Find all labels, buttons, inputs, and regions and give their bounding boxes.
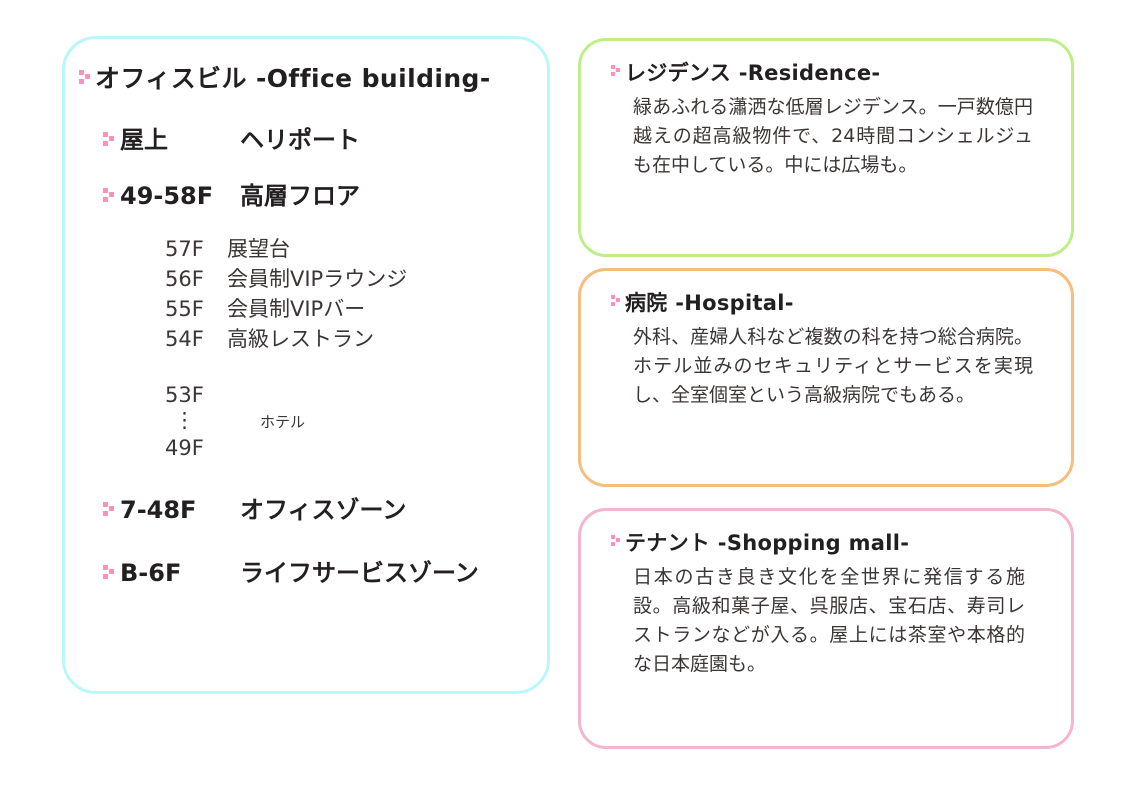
residence-card-content: レジデンス -Residence- 緑あふれる瀟洒な低層レジデンス。一戸数億円越… (581, 41, 1071, 180)
floor-row: 56F 会員制VIPラウンジ (165, 265, 527, 295)
floor-row: 53F (165, 381, 527, 411)
vertical-ellipsis-icon: ⋮ (165, 410, 236, 431)
zone-key: B-6F (120, 560, 240, 586)
floor-name: 展望台 (227, 235, 290, 265)
floor-name: 会員制VIPラウンジ (227, 265, 407, 295)
floor-row: 55F 会員制VIPバー (165, 295, 527, 325)
hospital-description: 外科、産婦人科など複数の科を持つ総合病院。ホテル並みのセキュリティとサービスを実… (633, 323, 1033, 410)
hospital-card: 病院 -Hospital- 外科、産婦人科など複数の科を持つ総合病院。ホテル並み… (578, 268, 1074, 487)
zone-name: オフィスゾーン (240, 497, 406, 523)
office-card-content: オフィスビル -Office building- 屋上 ヘリポート 49-58F… (65, 39, 547, 586)
spacer (79, 524, 527, 560)
hospital-title: 病院 -Hospital- (625, 291, 794, 315)
mall-description: 日本の古き良き文化を全世界に発信する施設。高級和菓子屋、呉服店、宝石店、寿司レス… (633, 563, 1025, 679)
floor-list: 57F 展望台 56F 会員制VIPラウンジ 55F 会員制VIPバー 54F … (165, 235, 527, 463)
arrow-bullet-icon (103, 565, 114, 581)
floor-name: 会員制VIPバー (227, 295, 365, 325)
shopping-mall-card: テナント -Shopping mall- 日本の古き良き文化を全世界に発信する施… (578, 508, 1074, 749)
residence-title: レジデンス -Residence- (625, 61, 880, 85)
residence-card: レジデンス -Residence- 緑あふれる瀟洒な低層レジデンス。一戸数億円越… (578, 38, 1074, 257)
floor-guide-board: オフィスビル -Office building- 屋上 ヘリポート 49-58F… (0, 0, 1125, 792)
floor-row: 49F (165, 434, 527, 464)
hotel-floor-range: 53F ⋮ ホテル 49F (165, 381, 527, 464)
arrow-bullet-icon (611, 65, 620, 79)
floor-row: 54F 高級レストラン (165, 325, 527, 355)
spacer (79, 153, 527, 183)
floor-number: 55F (165, 295, 227, 325)
spacer (79, 93, 527, 127)
office-title-row: オフィスビル -Office building- (79, 65, 527, 93)
office-building-card: オフィスビル -Office building- 屋上 ヘリポート 49-58F… (62, 36, 550, 694)
section-name: 高層フロア (240, 183, 360, 209)
zone-name: ライフサービスゾーン (240, 560, 479, 586)
mall-title-row: テナント -Shopping mall- (611, 531, 1045, 555)
floor-number: 57F (165, 235, 227, 265)
office-zone-office: 7-48F オフィスゾーン (103, 497, 527, 523)
mall-card-content: テナント -Shopping mall- 日本の古き良き文化を全世界に発信する施… (581, 511, 1071, 679)
office-title: オフィスビル -Office building- (95, 65, 491, 93)
residence-title-row: レジデンス -Residence- (611, 61, 1045, 85)
floor-number: 56F (165, 265, 227, 295)
section-name: ヘリポート (240, 127, 360, 153)
office-section-rooftop: 屋上 ヘリポート (103, 127, 527, 153)
floor-row: ⋮ ホテル (165, 410, 527, 433)
arrow-bullet-icon (103, 502, 114, 518)
arrow-bullet-icon (103, 132, 114, 148)
hospital-title-row: 病院 -Hospital- (611, 291, 1045, 315)
office-zone-lifeservice: B-6F ライフサービスゾーン (103, 560, 527, 586)
floor-number: 53F (165, 381, 227, 411)
residence-description: 緑あふれる瀟洒な低層レジデンス。一戸数億円越えの超高級物件で、24時間コンシェル… (633, 93, 1033, 180)
floor-row: 57F 展望台 (165, 235, 527, 265)
arrow-bullet-icon (611, 295, 620, 309)
floor-number: 54F (165, 325, 227, 355)
floor-number: 49F (165, 434, 227, 464)
spacer (165, 355, 527, 381)
mall-title: テナント -Shopping mall- (625, 531, 909, 555)
spacer (79, 463, 527, 497)
office-section-highfloors: 49-58F 高層フロア (103, 183, 527, 209)
arrow-bullet-icon (611, 535, 620, 549)
section-key: 49-58F (120, 183, 240, 209)
section-key: 屋上 (120, 127, 240, 153)
hospital-card-content: 病院 -Hospital- 外科、産婦人科など複数の科を持つ総合病院。ホテル並み… (581, 271, 1071, 410)
arrow-bullet-icon (103, 188, 114, 204)
arrow-bullet-icon (79, 70, 90, 86)
floor-name: 高級レストラン (227, 325, 374, 355)
hotel-label: ホテル (236, 412, 305, 433)
zone-key: 7-48F (120, 497, 240, 523)
